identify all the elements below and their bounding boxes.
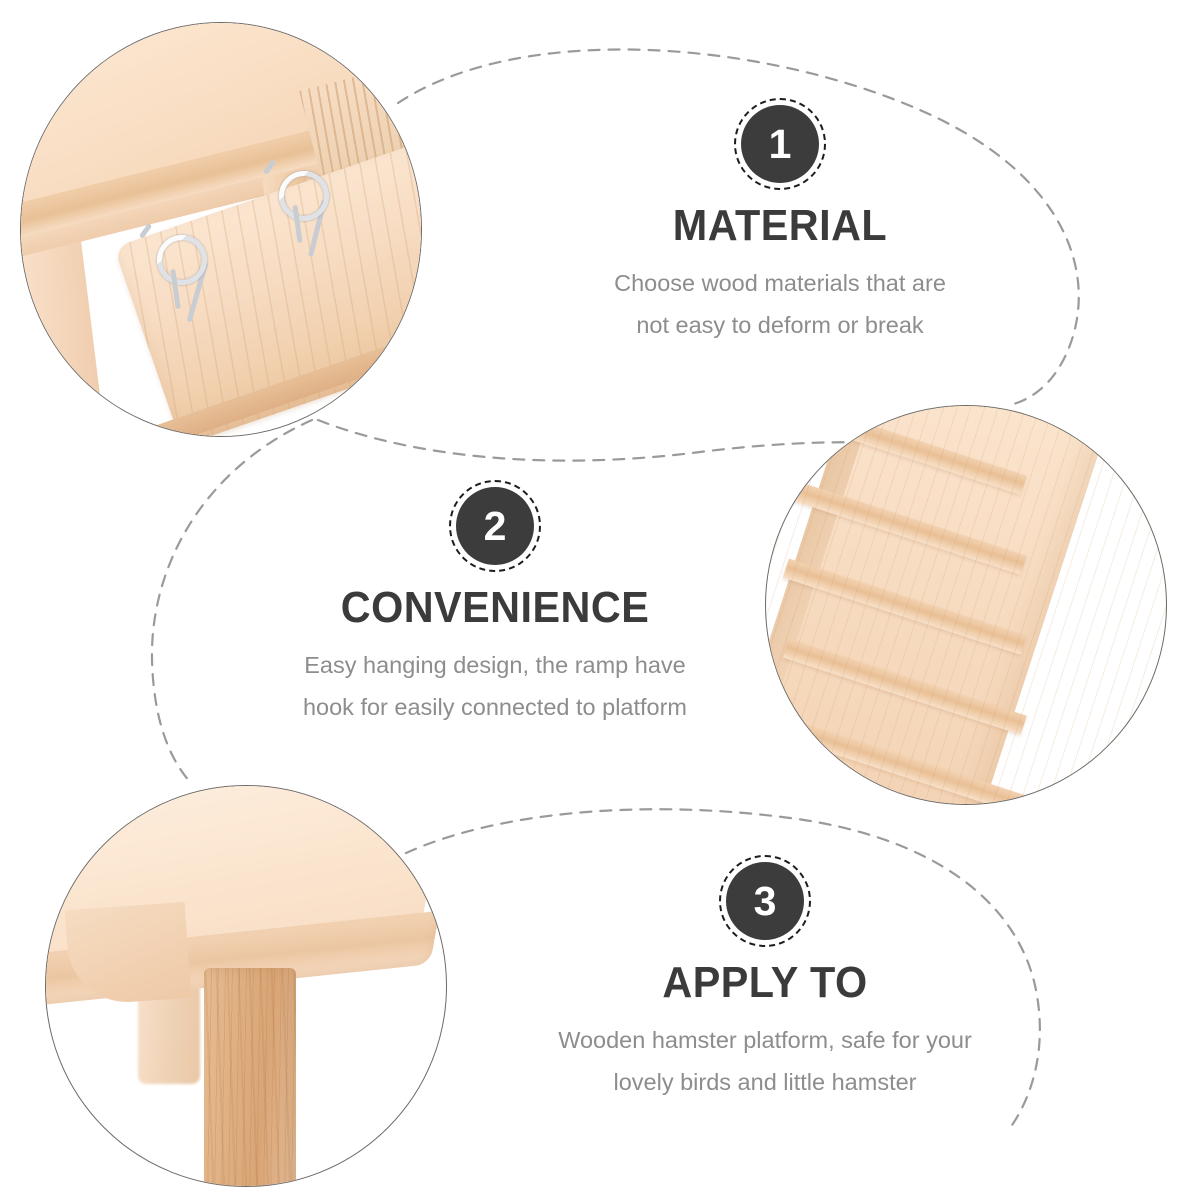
feature-body-line: hook for easily connected to platform [185,687,805,729]
feature-body-2: Easy hanging design, the ramp have hook … [185,645,805,729]
step-badge-2: 2 [456,487,534,565]
beech-leg-grain [204,968,296,1186]
feature-block-material: 1 MATERIAL Choose wood materials that ar… [470,105,1090,347]
feature-body-line: Choose wood materials that are [470,263,1090,305]
feature-body-1: Choose wood materials that are not easy … [470,263,1090,347]
step-number-1: 1 [769,124,792,165]
feature-body-line: Wooden hamster platform, safe for your [455,1020,1075,1062]
wooden-ladder-ramp-photo [765,405,1167,805]
photo-2-content [766,406,1166,804]
feature-heading-2: CONVENIENCE [204,583,787,633]
feature-body-line: not easy to deform or break [470,305,1090,347]
platform-hooks-ramp-photo [20,22,422,437]
ramp-wood-grain [766,406,1166,804]
feature-heading-1: MATERIAL [489,201,1072,251]
step-number-3: 3 [754,881,777,922]
feature-block-apply-to: 3 APPLY TO Wooden hamster platform, safe… [455,862,1075,1104]
step-number-2: 2 [484,506,507,547]
step-badge-3: 3 [726,862,804,940]
photo-3-content [46,786,446,1186]
feature-body-line: Easy hanging design, the ramp have [185,645,805,687]
feature-heading-3: APPLY TO [474,958,1057,1008]
platform-corner-leg-photo [45,785,447,1187]
step-badge-1: 1 [741,105,819,183]
photo-1-content [21,23,421,436]
feature-block-convenience: 2 CONVENIENCE Easy hanging design, the r… [185,487,805,729]
feature-body-line: lovely birds and little hamster [455,1062,1075,1104]
infographic-canvas: 1 MATERIAL Choose wood materials that ar… [0,0,1200,1200]
feature-body-3: Wooden hamster platform, safe for your l… [455,1020,1075,1104]
